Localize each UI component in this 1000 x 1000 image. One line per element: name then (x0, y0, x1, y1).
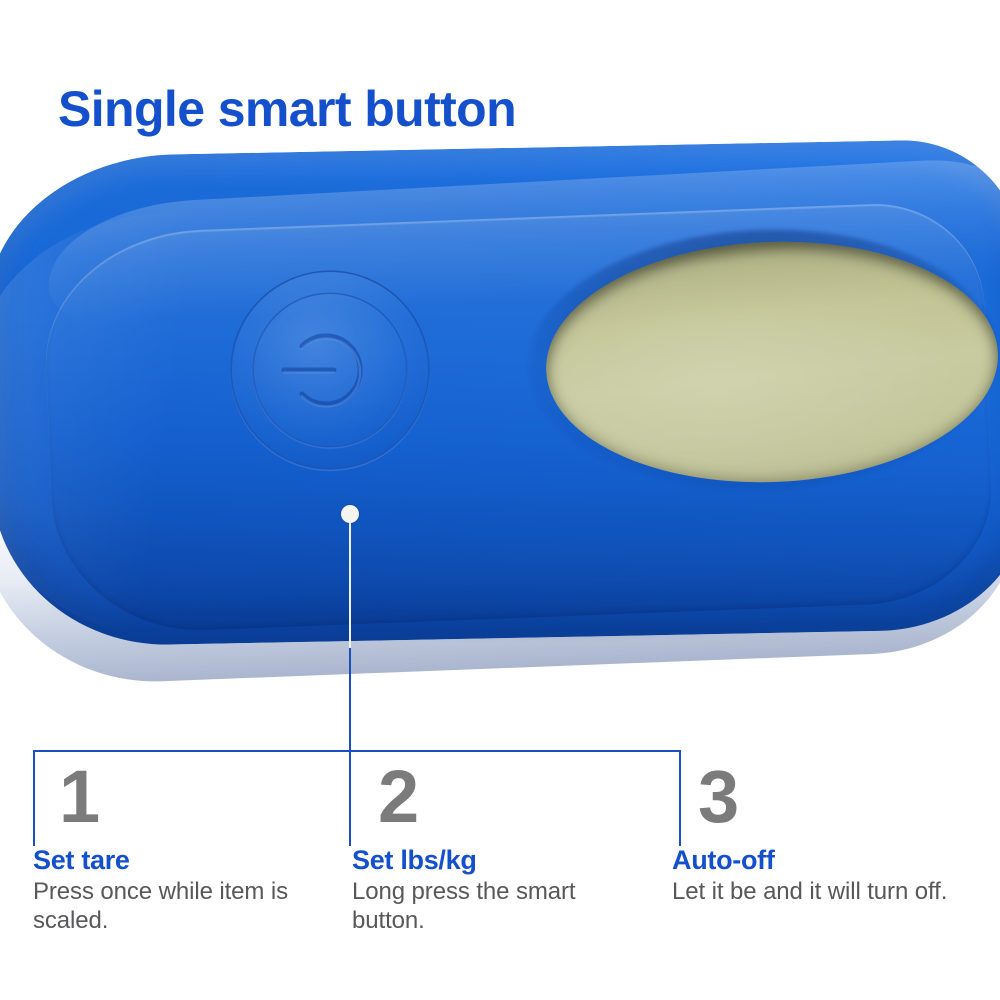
step-number: 1 (33, 760, 333, 844)
step-item-3: 3 Auto-off Let it be and it will turn of… (672, 760, 972, 906)
step-body: Long press the smart button. (352, 877, 652, 935)
step-item-2: 2 Set lbs/kg Long press the smart button… (352, 760, 652, 935)
callout-leader-line (349, 648, 351, 752)
power-icon (262, 302, 398, 438)
product-photo (0, 120, 1000, 700)
bracket-horizontal-rule (33, 750, 681, 752)
smart-button[interactable] (232, 272, 428, 468)
scale-left-highlight (0, 211, 239, 640)
step-heading: Auto-off (672, 844, 972, 876)
step-number: 2 (352, 760, 652, 844)
infographic-page: Single smart button (0, 0, 1000, 1000)
step-body: Let it be and it will turn off. (672, 877, 972, 906)
step-heading: Set lbs/kg (352, 844, 652, 876)
step-body: Press once while item is scaled. (33, 877, 333, 935)
step-number: 3 (672, 760, 972, 844)
step-item-1: 1 Set tare Press once while item is scal… (33, 760, 333, 935)
steps-list: 1 Set tare Press once while item is scal… (0, 760, 1000, 980)
step-heading: Set tare (33, 844, 333, 876)
callout-dot (341, 505, 359, 523)
